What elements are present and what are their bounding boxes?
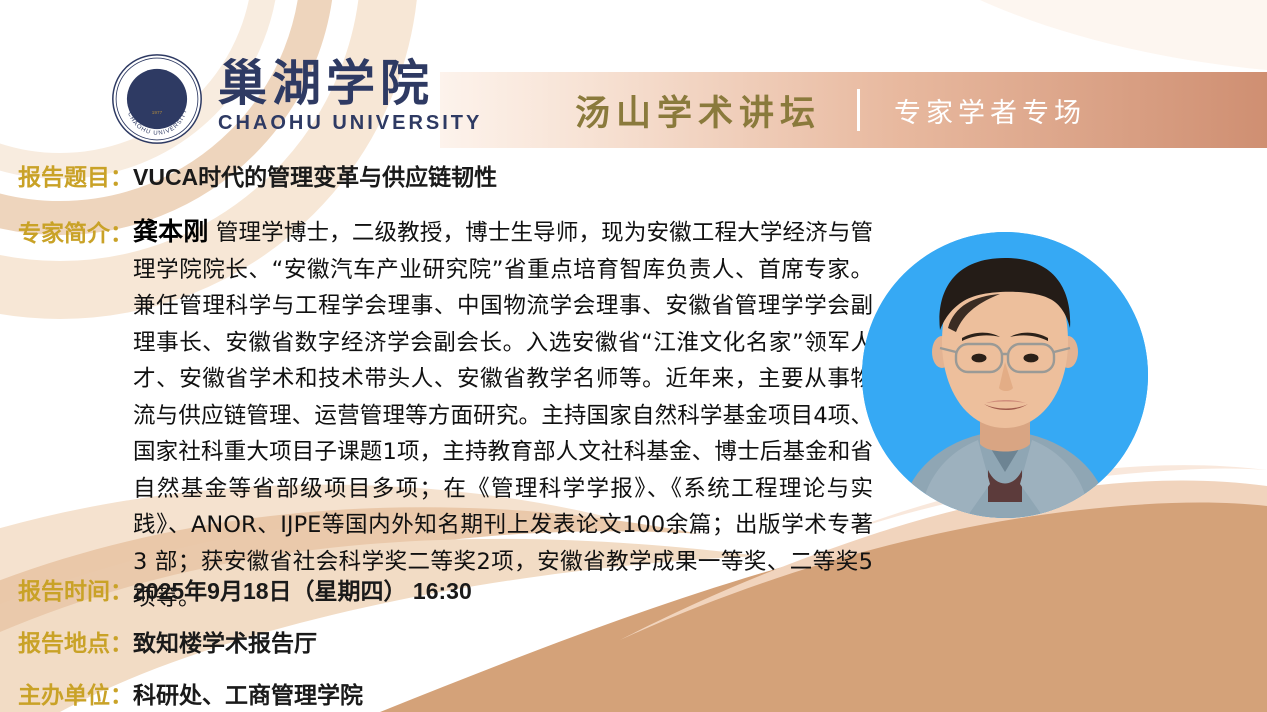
organizer-row: 主办单位： 科研处、工商管理学院 [18,676,363,710]
organizer-label: 主办单位： [18,676,133,710]
speaker-portrait [862,232,1148,518]
report-time-row: 报告时间： 2025年9月18日（星期四） 16:30 [18,572,472,606]
report-place-value: 致知楼学术报告厅 [133,624,317,658]
chaohu-university-seal-icon: 1977 巢 湖 学 院 CHAOHU UNIVERSITY [110,52,204,146]
report-place-label: 报告地点： [18,624,133,658]
forum-banner: 汤山学术讲坛 专家学者专场 [440,72,1267,148]
speaker-bio-text: 管理学博士，二级教授，博士生导师，现为安徽工程大学经济与管理学院院长、“安徽汽车… [133,220,873,611]
forum-title: 汤山学术讲坛 [575,85,821,136]
report-time-value: 2025年9月18日（星期四） 16:30 [133,572,472,606]
report-place-row: 报告地点： 致知楼学术报告厅 [18,624,317,658]
report-time-label: 报告时间： [18,572,133,606]
banner-divider [857,89,860,131]
lecture-poster: 1977 巢 湖 学 院 CHAOHU UNIVERSITY 巢湖学院 CHAO… [0,0,1267,712]
speaker-portrait-photo [862,232,1148,518]
university-name-en: CHAOHU UNIVERSITY [218,112,482,135]
report-title-label: 报告题目： [18,158,133,192]
report-title-row: 报告题目： VUCA时代的管理变革与供应链韧性 [18,158,497,192]
speaker-bio-row: 专家简介： 龚本刚 管理学博士，二级教授，博士生导师，现为安徽工程大学经济与管理… [18,214,873,617]
university-logo: 1977 巢 湖 学 院 CHAOHU UNIVERSITY 巢湖学院 CHAO… [110,52,482,146]
university-name-cn: 巢湖学院 [218,58,482,109]
forum-subtitle: 专家学者专场 [894,91,1086,130]
organizer-value: 科研处、工商管理学院 [133,676,363,710]
speaker-name: 龚本刚 [133,217,209,246]
speaker-bio-label: 专家简介： [18,214,133,248]
report-title-value: VUCA时代的管理变革与供应链韧性 [133,158,497,192]
svg-text:1977: 1977 [152,110,163,115]
speaker-bio-body: 龚本刚 管理学博士，二级教授，博士生导师，现为安徽工程大学经济与管理学院院长、“… [133,214,873,617]
